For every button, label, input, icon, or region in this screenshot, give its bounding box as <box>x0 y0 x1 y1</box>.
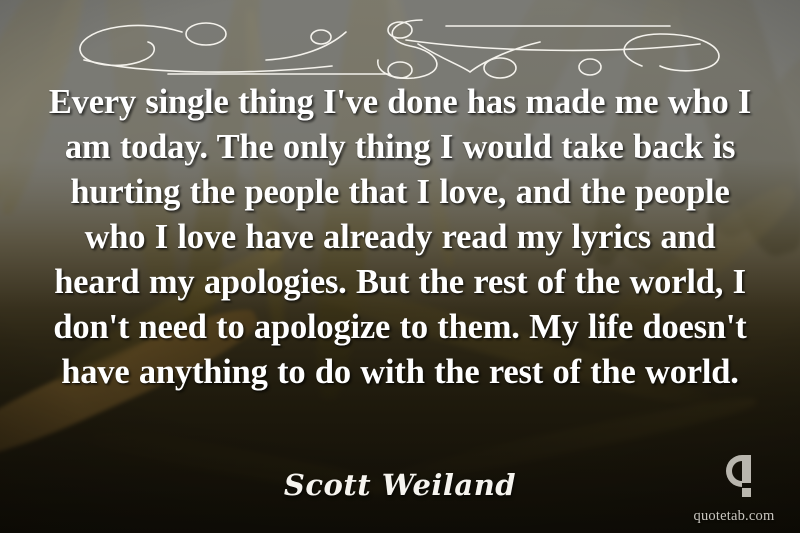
quote-author: Scott Weiland <box>0 468 800 502</box>
brand-name: quotetab.com <box>682 508 786 525</box>
quote-image-card: Every single thing I've done has made me… <box>0 0 800 533</box>
quote-text: Every single thing I've done has made me… <box>42 80 758 395</box>
brand-watermark[interactable]: quotetab.com <box>682 451 786 525</box>
quotetab-q-logo-icon <box>706 451 762 507</box>
decorative-flourish-icon <box>70 10 730 82</box>
